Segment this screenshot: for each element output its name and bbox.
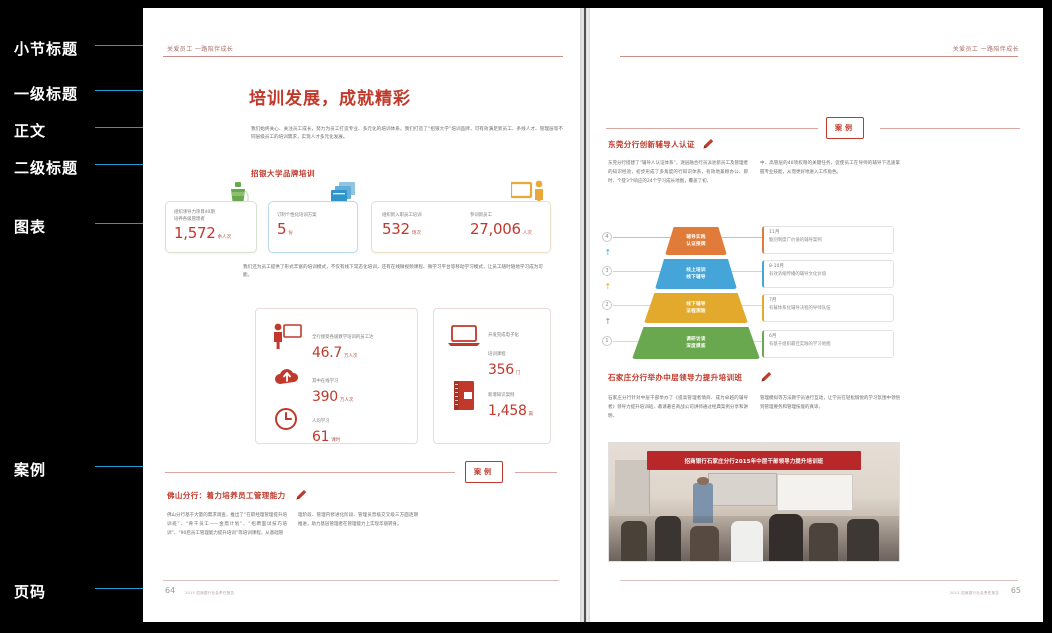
pyramid-arrow-up-icon: ↑ <box>605 249 612 257</box>
annotation-label-page-number: 页码 <box>14 581 46 602</box>
pyramid-step-number: 1 <box>602 336 612 346</box>
pyramid-desc-month: 11月 <box>769 230 888 237</box>
clock-icon <box>274 407 298 431</box>
stat-card: 组织领导力项目40期 培养各级管理者 1,572余人次 <box>165 201 257 253</box>
stat-card: 订制个性化培训方案 5份 <box>268 201 358 253</box>
annotation-label-body: 正文 <box>14 120 46 141</box>
pyramid-step-4: 辅导实践 认证授牌 <box>665 227 727 255</box>
section-subtitle: 招银大学品牌培训 <box>251 168 315 179</box>
pencil-icon <box>702 137 715 150</box>
pyramid-step-number: 2 <box>602 300 612 310</box>
pyramid-desc-box-4: 11月 甄别制度广价值的辅导案例 <box>762 226 894 254</box>
stat-card: 组织新入职员工培训 532场次 参训新员工 27,006人次 <box>371 201 551 253</box>
pyramid-arrow-up-icon: ↑ <box>605 283 612 291</box>
book-icon <box>452 381 476 411</box>
stat-number: 532 <box>382 220 410 238</box>
stat-caption: 参训新员工 <box>470 212 548 219</box>
case-title-2: 石家庄分行举办中层领导力提升培训班 <box>608 372 742 383</box>
pyramid-step-line2: 认证授牌 <box>686 241 706 248</box>
presenter-board-icon <box>272 323 302 349</box>
annotation-label-h1: 一级标题 <box>14 83 78 104</box>
stat-caption: 组织领导力项目40期 培养各级管理者 <box>174 209 248 223</box>
stat-unit: 份 <box>288 231 293 236</box>
metric-number: 46.7 <box>312 345 342 361</box>
case2-paragraph-col2: 管理模拟等方法教学员进行互动，让学员在轻松愉悦的学习氛围中领悟到管理要务和管理技… <box>760 395 900 413</box>
screenshot-root: 小节标题 一级标题 正文 二级标题 图表 案例 页码 关爱员工 一路陪伴成长 培… <box>0 0 1052 633</box>
metric-caption: 全行接受各级教学培训的员工达 <box>312 335 373 340</box>
pencil-icon <box>760 370 773 383</box>
metric-unit: 篇 <box>529 412 534 417</box>
case-paragraph-col1: 佛山分行基于大量的需求调查，推出了“在职经理管理提升培训班”、“骨干员工——金鼎… <box>167 512 287 538</box>
metric-number: 356 <box>488 362 514 378</box>
header-rule <box>620 56 1018 57</box>
spread-gutter <box>580 8 590 622</box>
stat-number: 27,006 <box>470 220 521 238</box>
pyramid-step-line1: 辅导实践 <box>686 234 706 241</box>
pyramid-desc-box-3: 8-10月 有效浓缩传播的辅导文化价值 <box>762 260 894 288</box>
metric-caption: 人均学习 <box>312 419 330 424</box>
footer-rule <box>163 580 559 581</box>
pyramid-step-number: 3 <box>602 266 612 276</box>
pyramid-step-line1: 调研访谈 <box>686 336 706 343</box>
left-page: 关爱员工 一路陪伴成长 培训发展，成就精彩 我们始终关心、关注员工成长，努力为员… <box>143 8 580 622</box>
metrics-panel-left: 全行接受各级教学培训的员工达 46.7万人次 其中在线学习 390万人次 人均学… <box>255 308 418 444</box>
pyramid-desc-text: 有基于组织最佳实践的学习地图 <box>769 342 888 349</box>
pyramid-step-line2: 深度摸底 <box>686 343 706 350</box>
metric-number: 1,458 <box>488 403 527 419</box>
pyramid-desc-text: 有载体系化辅导决程的导师队伍 <box>769 306 888 313</box>
stat-number: 1,572 <box>174 224 215 242</box>
stat-caption: 订制个性化培训方案 <box>277 212 349 219</box>
pyramid-step-line1: 线上培训 <box>686 267 706 274</box>
right-running-header: 关爱员工 一路陪伴成长 <box>953 44 1019 53</box>
pyramid-step-number: 4 <box>602 232 612 242</box>
pyramid-desc-month: 7月 <box>769 298 888 305</box>
stat-unit: 余人次 <box>217 235 231 240</box>
case2-paragraph-col1: 石家庄分行针对中层干部举办了《提高管理者情商、成为卓越的辅导者》领导力提升培训班… <box>608 395 748 421</box>
cloud-upload-icon <box>273 367 301 387</box>
page-number: 64 <box>165 586 175 595</box>
case-badge: 案例 <box>465 461 503 483</box>
case-rule <box>880 128 1020 129</box>
pyramid-desc-box-2: 7月 有载体系化辅导决程的导师队伍 <box>762 294 894 322</box>
case1-paragraph-col1: 东莞分行搭建了“辅导人认证体系”，逐层融合行员派驻新员工及管理者的知识经验，初步… <box>608 160 748 186</box>
pencil-icon <box>295 488 308 501</box>
laptop-icon <box>448 325 480 347</box>
pyramid-desc-box-1: 6月 有基于组织最佳实践的学习地图 <box>762 330 894 358</box>
page-title: 培训发展，成就精彩 <box>249 84 411 109</box>
photo-banner-text: 招商银行石家庄分行2015年中层干部领导力提升培训班 <box>647 451 862 470</box>
pyramid-step-line2: 线下辅导 <box>686 274 706 281</box>
pyramid-desc-text: 有效浓缩传播的辅导文化价值 <box>769 272 888 279</box>
annotation-label-chart: 图表 <box>14 216 46 237</box>
metric-caption: 新增知识案例 <box>488 393 514 398</box>
stat-unit: 场次 <box>412 231 421 236</box>
pyramid-arrow-up-icon: ↑ <box>605 318 612 326</box>
case1-paragraph-col2: 中、高管层的40项权限的关键任务，促使员工在导师的辅导下迅速掌握专业技能，从而更… <box>760 160 900 178</box>
case-rule <box>165 472 455 473</box>
footer-rule <box>620 580 1018 581</box>
case-title: 佛山分行：着力培养员工管理能力 <box>167 490 286 501</box>
pyramid-desc-month: 6月 <box>769 334 888 341</box>
metric-unit: 课时 <box>331 438 340 443</box>
metric-number: 390 <box>312 389 338 405</box>
metric-unit: 门 <box>516 371 521 376</box>
pyramid-step-1: 调研访谈 深度摸底 <box>632 327 760 359</box>
right-page: 关爱员工 一路陪伴成长 案例 东莞分行创新辅导人认证 东莞分行搭建了“辅导人认证… <box>590 8 1043 622</box>
header-rule <box>163 56 563 57</box>
pyramid-step-3: 线上培训 线下辅导 <box>655 259 737 289</box>
case-rule <box>606 128 818 129</box>
training-photo: 招商银行石家庄分行2015年中层干部领导力提升培训班 <box>608 442 900 562</box>
annotation-label-case: 案例 <box>14 459 46 480</box>
metric-unit: 万人次 <box>344 354 358 359</box>
pyramid-desc-month: 8-10月 <box>769 264 888 271</box>
metric-caption: 其中在线学习 <box>312 379 338 384</box>
case-paragraph-col2: 理阶段、管理内修进化阶段、管理员晋级交叉级三方面逐期推进，助力基层管理者在管理能… <box>298 512 418 530</box>
pyramid-diagram: 4 3 2 1 ↑ ↑ ↑ 辅导实践 认证授牌 线上培训 <box>602 226 902 368</box>
page-spread: 关爱员工 一路陪伴成长 培训发展，成就精彩 我们始终关心、关注员工成长，努力为员… <box>143 8 1043 622</box>
annotation-label-h2: 二级标题 <box>14 157 78 178</box>
metrics-panel-right: 开发完成电子化 培训课程 356门 新增知识案例 1,458篇 <box>433 308 551 444</box>
metric-unit: 万人次 <box>340 398 354 403</box>
mid-paragraph: 我们还为员工提供了形式丰富的培训模式，不仅有线下常态化培训，还有在线微视频课程、… <box>243 264 543 281</box>
metric-number: 61 <box>312 429 329 445</box>
case-rule <box>515 472 557 473</box>
footer-text: 2015 招商银行社会责任报告 <box>950 591 999 596</box>
left-running-header: 关爱员工 一路陪伴成长 <box>167 44 233 53</box>
stat-caption: 组织新入职员工培训 <box>382 212 462 219</box>
pyramid-desc-text: 甄别制度广价值的辅导案例 <box>769 238 888 245</box>
pyramid-step-line2: 法程测验 <box>686 308 706 315</box>
intro-paragraph: 我们始终关心、关注员工成长，努力为员工打造专业、多元化的培训体系。我们打造了“招… <box>251 126 563 143</box>
stat-unit: 人次 <box>523 231 532 236</box>
stat-number: 5 <box>277 220 286 238</box>
page-number: 65 <box>1011 586 1021 595</box>
pyramid-step-2: 线下辅导 法程测验 <box>644 293 748 323</box>
pyramid-step-line1: 线下辅导 <box>686 301 706 308</box>
case-badge: 案例 <box>826 117 864 139</box>
case-title-1: 东莞分行创新辅导人认证 <box>608 139 695 150</box>
annotation-label-section-title: 小节标题 <box>14 38 78 59</box>
metric-caption: 开发完成电子化 培训课程 <box>488 333 519 357</box>
footer-text: 2015 招商银行社会责任报告 <box>185 591 234 596</box>
